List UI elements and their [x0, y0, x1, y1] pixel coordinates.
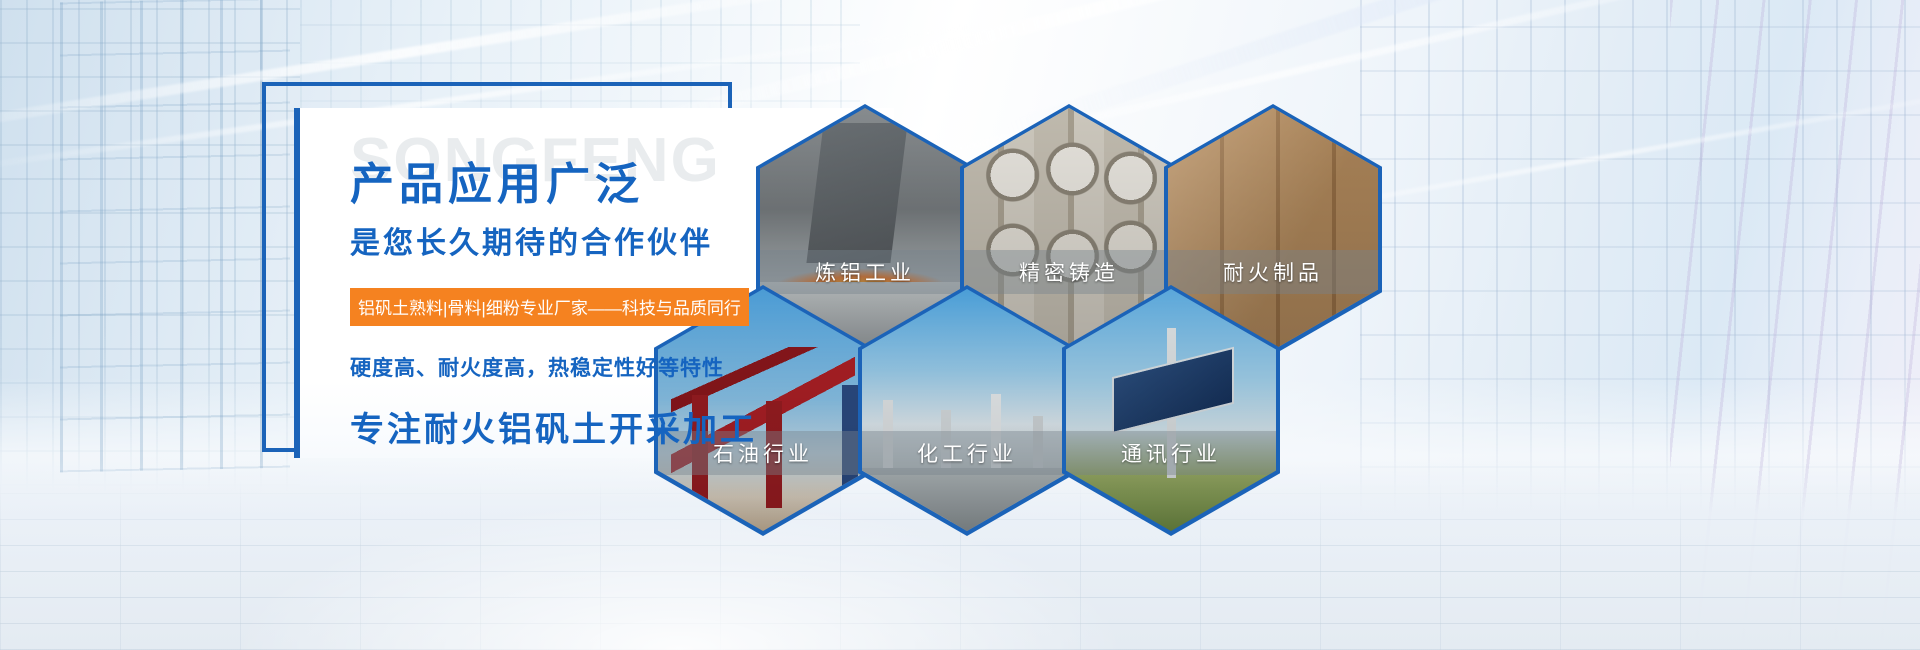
- promotional-banner: SONGFENG 产品应用广泛 是您长久期待的合作伙伴 铝矾土熟料|骨料|细粉专…: [0, 0, 1920, 650]
- hex-label: 通讯行业: [1066, 431, 1276, 475]
- subtitle: 是您长久期待的合作伙伴: [350, 218, 894, 262]
- hex-label: 耐火制品: [1168, 250, 1378, 294]
- feature-description: 硬度高、耐火度高，热稳定性好等特性: [350, 352, 894, 382]
- building-glass-left-decor: [0, 0, 300, 520]
- status-badge: 铝矾土熟料|骨料|细粉专业厂家——科技与品质同行: [350, 288, 749, 326]
- hex-label: 精密铸造: [964, 250, 1174, 294]
- industry-hexagon-grid: 炼铝工业 精密铸造 耐火制品 石油行业: [660, 70, 1380, 540]
- page-title: 产品应用广泛: [350, 162, 894, 208]
- business-claim: 专注耐火铝矾土开采加工: [350, 402, 894, 451]
- building-glass-left2-decor: [60, 0, 290, 472]
